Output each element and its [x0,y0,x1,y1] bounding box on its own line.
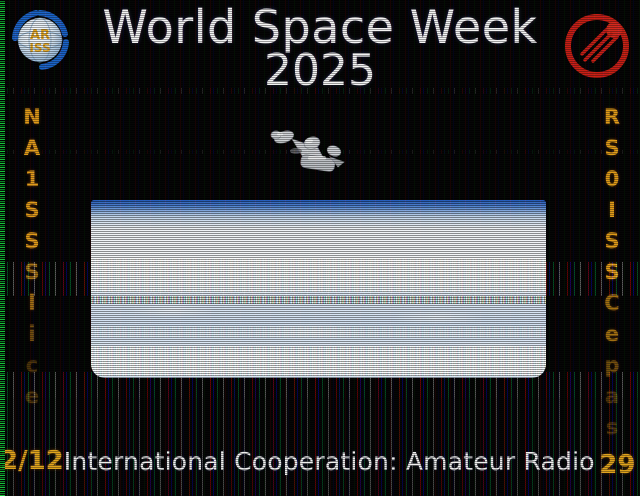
left-letter-1: A [17,133,47,164]
right-letter-9: a [597,381,627,412]
left-letter-6: l [17,288,47,319]
right-vertical-callsign: R S 0 I S S C e p a s [597,102,627,443]
right-letter-4: S [597,226,627,257]
left-letter-8: c [17,350,47,381]
left-letter-4: S [17,226,47,257]
slide-number: 2/12 [0,446,64,476]
left-vertical-callsign: N A 1 S S S l i c e [17,102,47,412]
page-title: World Space Week 2025 [80,4,560,94]
right-letter-3: I [597,195,627,226]
left-letter-3: S [17,195,47,226]
sstv-image-frame: AR ISS World Space Week 2025 N A 1 S S S… [0,0,640,496]
sstv-sync-stripe [0,0,5,496]
right-letter-10: s [597,412,627,443]
title-line-1: World Space Week [80,4,560,51]
left-letter-7: i [17,319,47,350]
left-letter-0: N [17,102,47,133]
title-line-2: 2025 [80,49,560,94]
caption-right-number: 29 [595,442,640,480]
left-letter-2: 1 [17,164,47,195]
earth-scanlines [91,200,546,378]
right-letter-8: p [597,350,627,381]
earth-panel [91,200,546,378]
world-space-week-logo [560,6,634,82]
right-letter-0: R [597,102,627,133]
caption-bar: 2/12 International Cooperation: Amateur … [0,444,640,478]
left-letter-5: S [17,257,47,288]
ariss-logo: AR ISS [8,8,72,72]
right-letter-2: 0 [597,164,627,195]
right-letter-1: S [597,133,627,164]
right-letter-6: C [597,288,627,319]
caption-text: International Cooperation: Amateur Radio [64,447,595,476]
right-letter-5: S [597,257,627,288]
left-letter-9: e [17,381,47,412]
svg-text:ISS: ISS [29,41,50,55]
astronaut-eva-figure [262,118,362,180]
right-letter-7: e [597,319,627,350]
